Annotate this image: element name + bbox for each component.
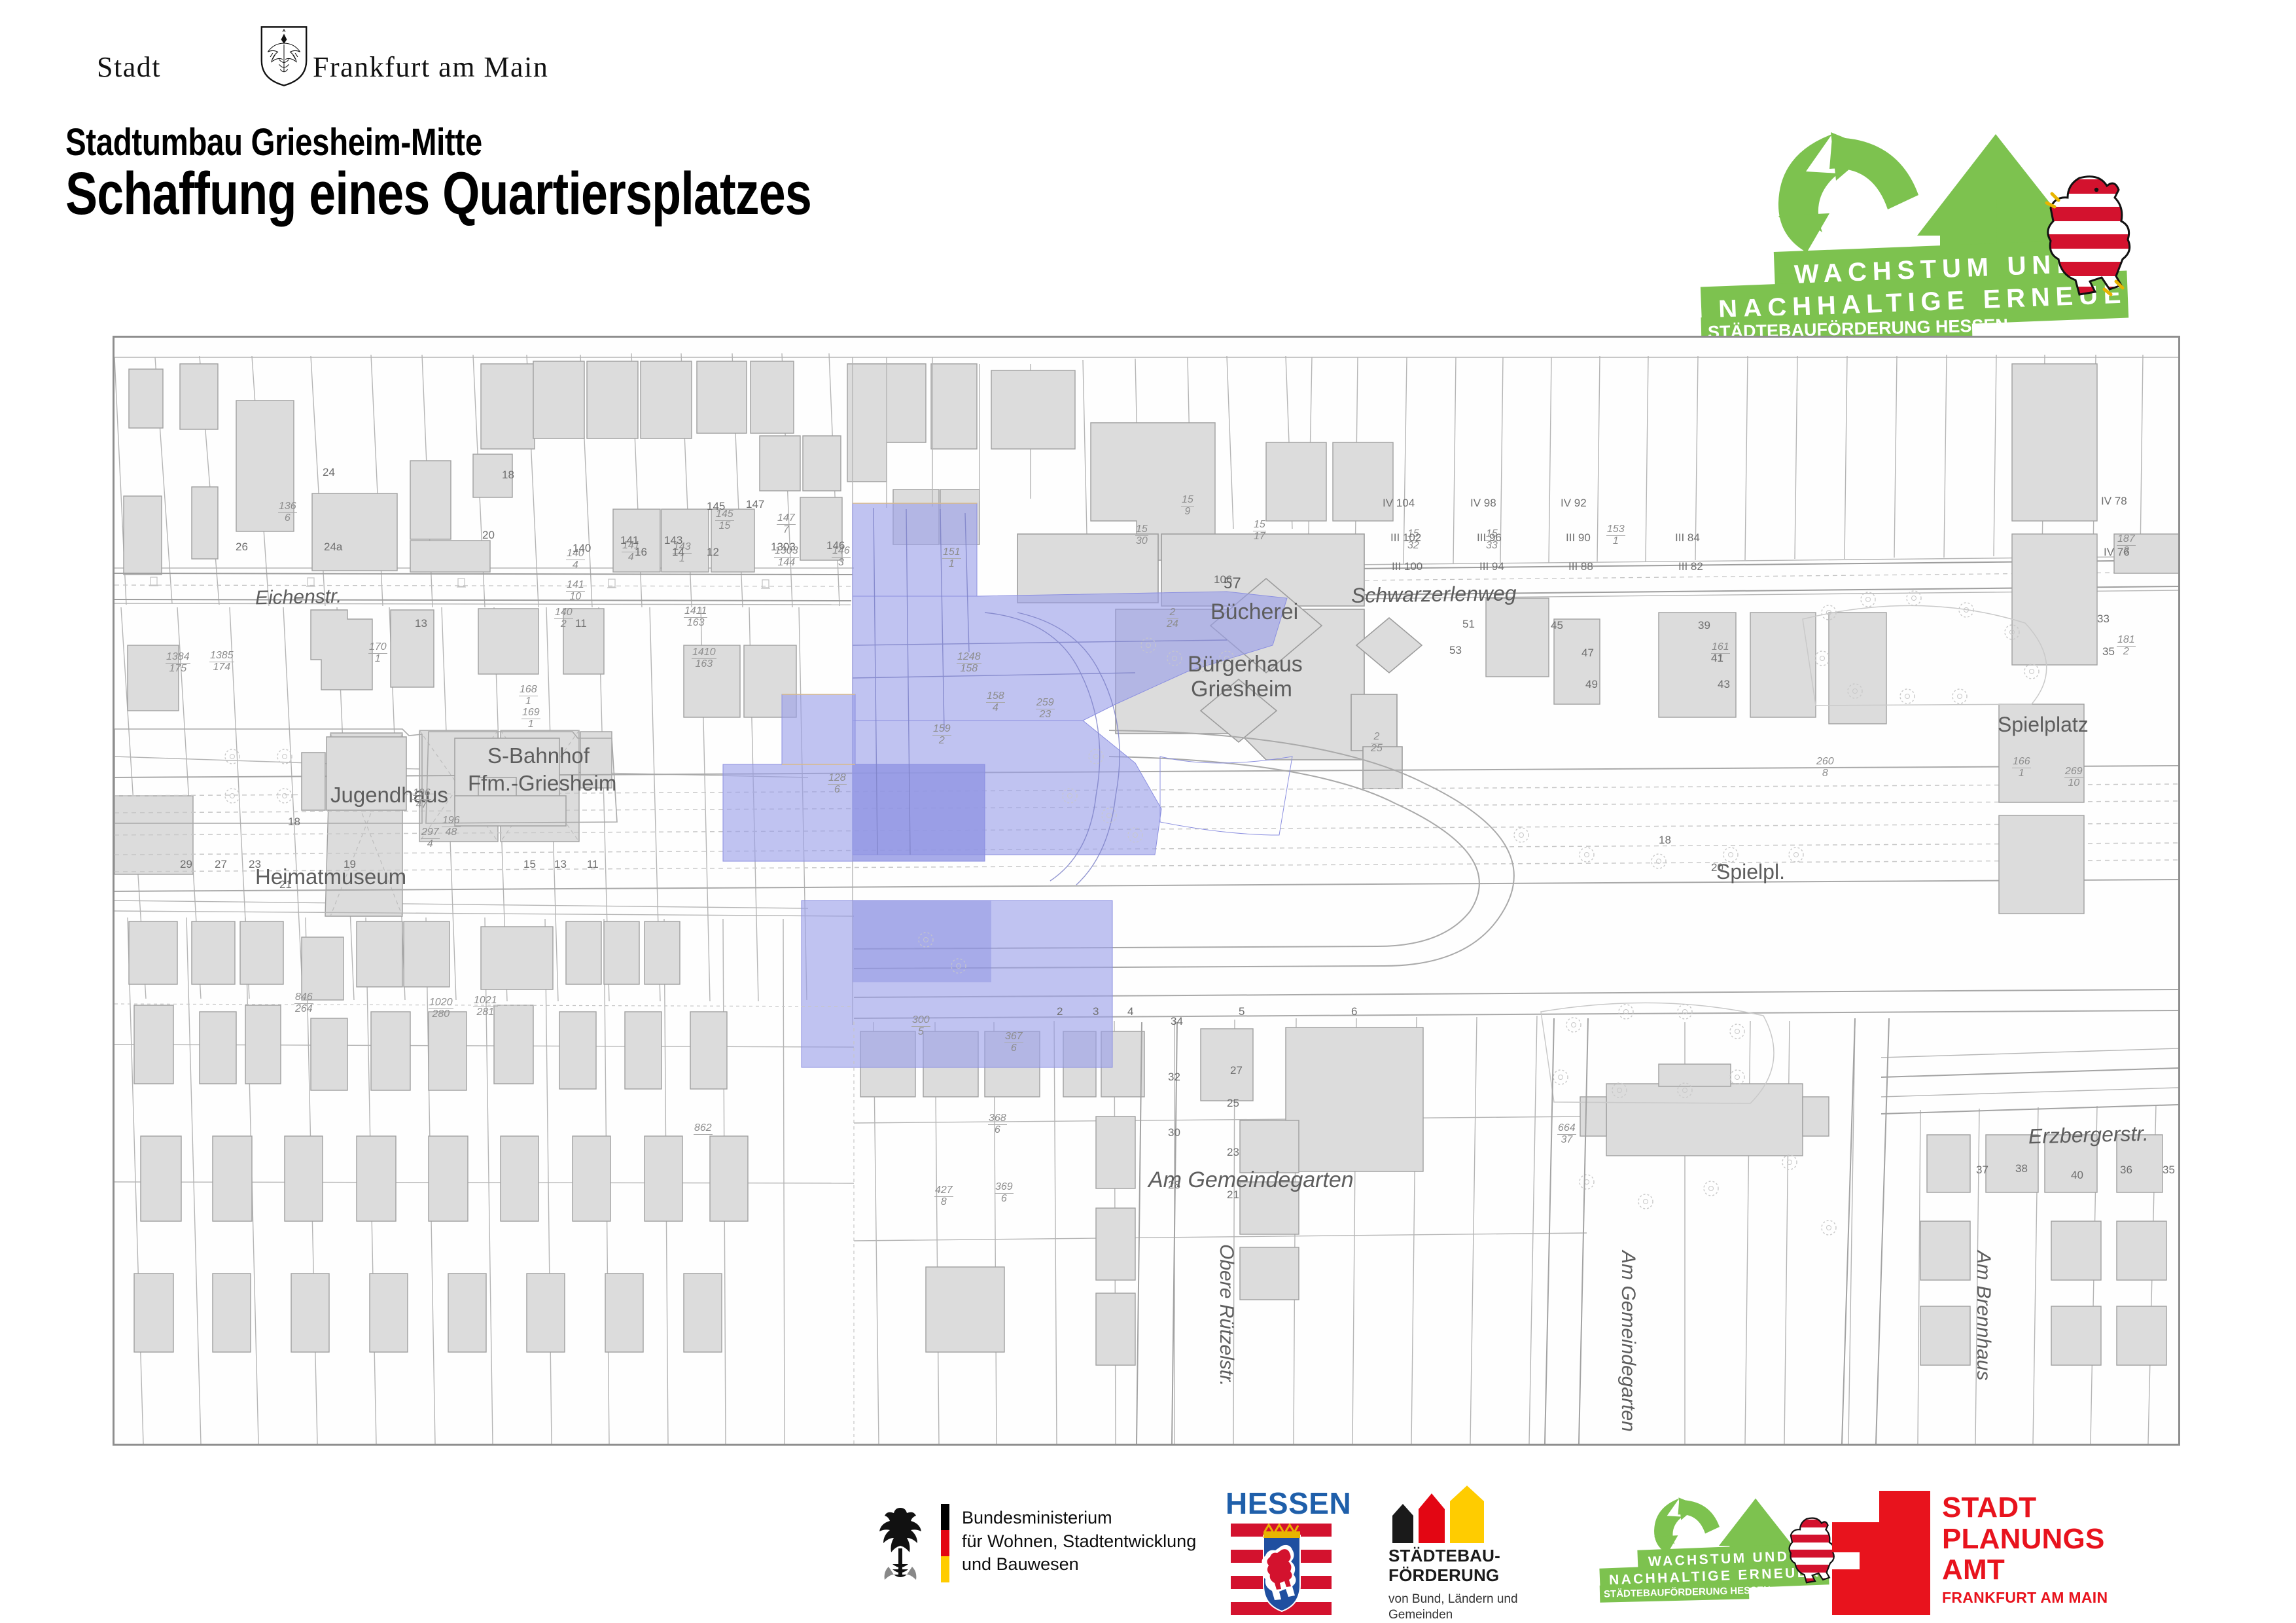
parcel-number: 1411163: [684, 606, 707, 629]
parcel-number: 25923: [1036, 698, 1055, 721]
parcel-number: 1021281: [473, 995, 498, 1018]
sbf-sub2: Gemeinden: [1388, 1607, 1518, 1623]
house-number: 11: [575, 617, 587, 630]
house-number: 30: [1168, 1126, 1180, 1139]
house-number: IV 78: [2101, 495, 2127, 508]
parcel-number: 1681: [519, 685, 538, 707]
house-number: 12: [707, 546, 719, 559]
house-number: 43: [1718, 678, 1730, 691]
parcel-number: 3676: [1004, 1031, 1023, 1054]
parcel-number: 1812: [2117, 635, 2136, 658]
house-number: 40: [2071, 1169, 2083, 1182]
german-flag-bar: [941, 1504, 949, 1582]
map-vector-layer: [115, 338, 2178, 1444]
house-number: 20: [482, 529, 495, 542]
house-number: 6: [1351, 1005, 1357, 1018]
house-number: 11: [587, 858, 599, 871]
house-number: 14: [672, 546, 684, 559]
parcel-number: 14110: [566, 580, 585, 603]
house-number: 143: [664, 534, 682, 547]
sbf-line1: STÄDTEBAU-: [1388, 1546, 1500, 1565]
bmwsb-line3: und Bauwesen: [962, 1553, 1196, 1577]
parcel-number: 1385174: [209, 651, 234, 673]
parcel-number: 1366: [278, 501, 297, 524]
house-number: 38: [2015, 1162, 2028, 1175]
hessen-shield-lion-icon: [1226, 1524, 1337, 1615]
house-number: 146: [826, 539, 845, 552]
cadastral-map[interactable]: Eichenstr. Schwarzerlenweg Am Gemeindega…: [113, 336, 2180, 1446]
house-number: 13: [554, 858, 567, 871]
bmwsb-line1: Bundesministerium: [962, 1507, 1196, 1530]
house-number: 18: [502, 469, 514, 482]
parcel-number: 1020280: [429, 997, 453, 1020]
parcel-number: 1477: [777, 513, 796, 536]
parcel-number: 1584: [986, 691, 1005, 714]
three-houses-icon: [1388, 1486, 1506, 1543]
hessen-lion-icon: [2039, 170, 2137, 301]
house-number: IV 92: [1561, 497, 1587, 510]
parcel-number: 3005: [911, 1015, 930, 1038]
parcel-number: 1691: [521, 707, 540, 730]
house-number: 1303: [771, 541, 796, 554]
parcel-number: 1286: [828, 773, 847, 796]
house-number: 37: [1976, 1164, 1988, 1177]
house-number: 27: [1230, 1064, 1243, 1077]
house-number: 23: [249, 858, 261, 871]
stadtplanungsamt-logo: STADT PLANUNGS AMT FRANKFURT AM MAIN: [1832, 1486, 2225, 1616]
land-hessen-logo: HESSEN: [1226, 1486, 1337, 1616]
spa-line1: STADT: [1942, 1492, 2105, 1524]
house-number: 33: [2097, 613, 2110, 626]
house-number: 18: [1659, 834, 1671, 847]
house-number: 106: [1214, 573, 1232, 586]
house-number: 29: [180, 858, 192, 871]
house-number: III 102: [1390, 531, 1421, 544]
house-number: IV 76: [2104, 546, 2130, 559]
house-number: 35: [2102, 645, 2115, 658]
house-number: 26: [236, 541, 248, 554]
house-number: III 100: [1392, 560, 1422, 573]
parcel-number: 3696: [995, 1182, 1014, 1205]
house-number: 20: [1711, 861, 1723, 874]
sbf-text-block: STÄDTEBAU- FÖRDERUNG: [1388, 1546, 1500, 1585]
staedtebaufoerderung-logo: STÄDTEBAU- FÖRDERUNG von Bund, Ländern u…: [1388, 1486, 1585, 1616]
house-number: III 94: [1479, 560, 1504, 573]
parcel-number: 862: [694, 1123, 713, 1135]
parcel-number: 1531: [1606, 524, 1625, 547]
house-number: 15: [523, 858, 536, 871]
bmwsb-text-block: Bundesministerium für Wohnen, Stadtentwi…: [962, 1507, 1196, 1577]
house-number: 23: [1227, 1146, 1239, 1159]
spa-line2: PLANUNGS: [1942, 1524, 2105, 1555]
house-number: 35: [2163, 1164, 2175, 1177]
house-number: 36: [2120, 1164, 2132, 1177]
parcel-number: 1592: [932, 724, 951, 747]
city-of-frankfurt-logo: Stadt Frankfurt am Main: [97, 36, 522, 88]
house-number: III 96: [1477, 531, 1502, 544]
bundesadler-icon: [870, 1504, 930, 1582]
frankfurt-eagle-crest-icon: [259, 24, 309, 87]
city-logo-part1: Stadt: [97, 51, 161, 83]
parcel-number: 2974: [421, 827, 440, 850]
sbf-subtext: von Bund, Ländern und Gemeinden: [1388, 1592, 1518, 1623]
bundesministerium-logo: Bundesministerium für Wohnen, Stadtentwi…: [864, 1486, 1217, 1616]
city-logo-part2: Frankfurt am Main: [313, 51, 548, 83]
house-number: IV 104: [1383, 497, 1415, 510]
house-number: 21: [1227, 1188, 1239, 1202]
parcel-number: 2608: [1816, 757, 1835, 779]
parcel-number: 846264: [294, 992, 313, 1015]
house-number: 16: [635, 546, 647, 559]
house-number: 4: [1127, 1005, 1133, 1018]
parcel-number: 19647: [412, 788, 431, 811]
spa-text-block: STADT PLANUNGS AMT: [1942, 1492, 2105, 1586]
parcel-number: 225: [1371, 732, 1383, 755]
parcel-number: 4278: [934, 1185, 953, 1208]
sbf-sub1: von Bund, Ländern und: [1388, 1592, 1518, 1607]
funding-logos-row: Bundesministerium für Wohnen, Stadtentwi…: [0, 1486, 2296, 1616]
parcel-number: 1530: [1135, 524, 1148, 547]
house-number: 141: [620, 534, 639, 547]
house-number: 49: [1585, 678, 1598, 691]
project-subtitle: Stadtumbau Griesheim-Mitte: [65, 120, 482, 164]
parcel-number: 1511: [942, 547, 961, 570]
parcel-number: 1661: [2012, 757, 2031, 779]
house-number: 5: [1239, 1005, 1245, 1018]
house-number: 18: [288, 815, 300, 829]
bmwsb-line2: für Wohnen, Stadtentwicklung: [962, 1530, 1196, 1554]
parcel-number: 1384175: [166, 652, 190, 675]
parcel-number: 26910: [2064, 766, 2083, 789]
hessen-wordmark: HESSEN: [1226, 1486, 1351, 1521]
house-number: 51: [1462, 618, 1475, 631]
parcel-number: 1701: [368, 642, 387, 665]
parcel-number: 3686: [988, 1113, 1007, 1136]
parcel-number: 66437: [1557, 1123, 1576, 1146]
house-number: 25: [1227, 1097, 1239, 1110]
house-number: 32: [1168, 1071, 1180, 1084]
house-number: 24: [323, 466, 335, 479]
wne-footer-line3: STÄDTEBAUFÖRDERUNG HESSEN: [1600, 1582, 1750, 1603]
house-number: III 90: [1566, 531, 1591, 544]
parcel-number: 1248158: [957, 652, 981, 675]
stadtplanungsamt-mark-icon: [1832, 1491, 1930, 1622]
spa-subtext: FRANKFURT AM MAIN: [1942, 1589, 2108, 1607]
house-number: 2: [1057, 1005, 1063, 1018]
house-number: 13: [415, 617, 427, 630]
house-number: 140: [573, 542, 591, 555]
spa-line3: AMT: [1942, 1554, 2105, 1586]
parcel-number: 1517: [1253, 520, 1266, 543]
parcel-number: 1410163: [692, 647, 716, 670]
house-number: 21: [279, 878, 292, 891]
hessen-lion-icon-footer: [1784, 1514, 1838, 1586]
house-number: 147: [746, 498, 764, 511]
house-number: 24a: [324, 541, 342, 554]
house-number: 53: [1449, 644, 1462, 657]
house-number: 145: [707, 500, 725, 513]
house-number: 27: [215, 858, 227, 871]
house-number: 28: [1168, 1179, 1180, 1192]
page-title: Schaffung eines Quartiersplatzes: [65, 160, 811, 228]
house-number: 3: [1093, 1005, 1099, 1018]
parcel-number: 1402: [554, 607, 573, 630]
house-number: 19: [344, 858, 356, 871]
house-number: IV 98: [1470, 497, 1496, 510]
house-number: III 82: [1678, 560, 1703, 573]
parcel-number: 224: [1167, 607, 1178, 630]
parcel-number: 19648: [442, 815, 461, 838]
house-number: 41: [1711, 652, 1723, 665]
house-number: 45: [1551, 619, 1563, 632]
house-number: 39: [1698, 619, 1710, 632]
house-number: III 88: [1568, 560, 1593, 573]
parcel-number: 159: [1181, 495, 1194, 518]
house-number: 34: [1171, 1015, 1183, 1028]
house-number: III 84: [1675, 531, 1700, 544]
sbf-line2: FÖRDERUNG: [1388, 1565, 1500, 1585]
house-number: 47: [1581, 647, 1594, 660]
